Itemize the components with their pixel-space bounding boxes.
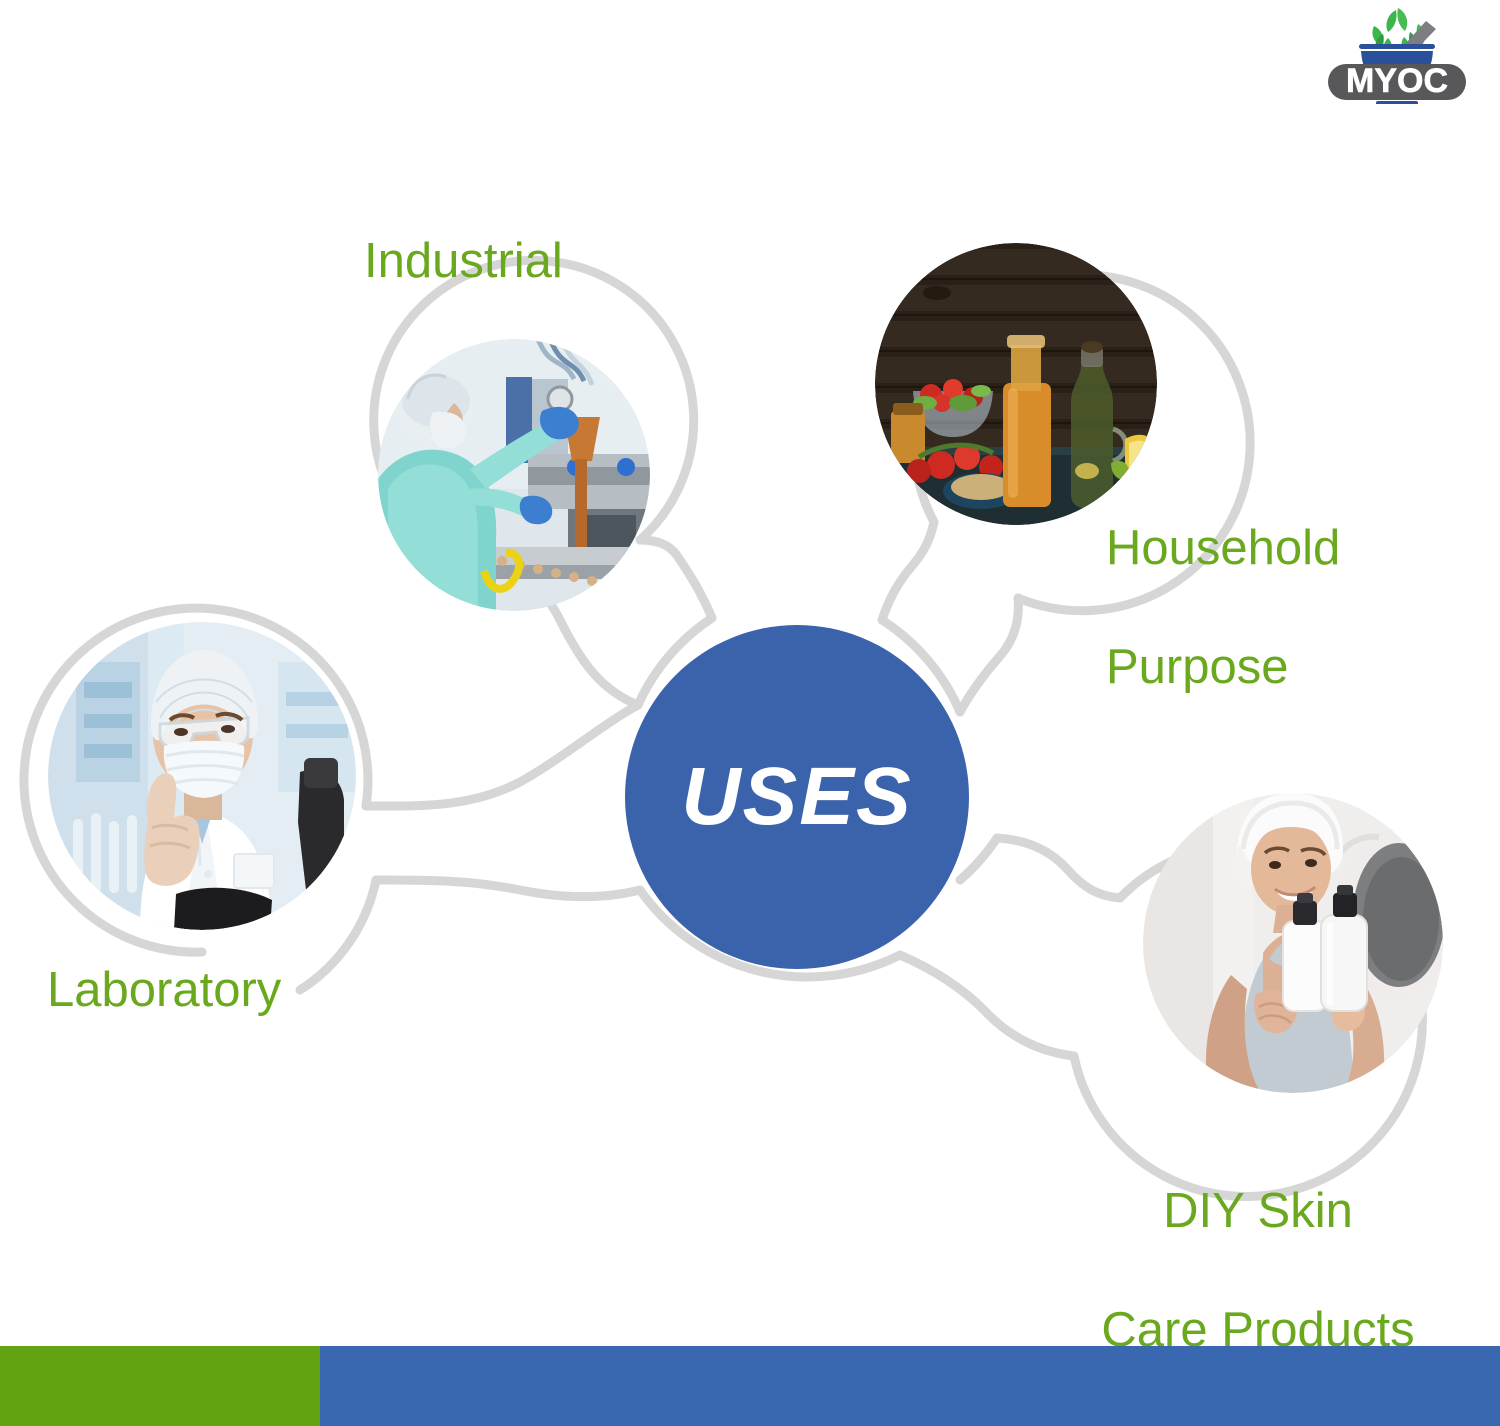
node-industrial[interactable] [378, 339, 650, 611]
label-household-line2: Purpose [1106, 638, 1340, 698]
infographic-canvas: MYOC [0, 0, 1500, 1426]
connector-center-to-industrial-a [640, 540, 712, 618]
center-label: USES [681, 756, 912, 838]
node-laboratory[interactable] [48, 622, 356, 930]
connector-center-to-diy-b [900, 955, 1074, 1056]
connector-laboratory-ring-b [300, 880, 376, 990]
footer-bar-blue [320, 1346, 1500, 1426]
label-diy-line1: DIY Skin [1078, 1182, 1438, 1242]
connector-center-ring-right [960, 838, 997, 880]
connector-center-to-lab-b [366, 705, 638, 806]
industrial-photo [378, 339, 650, 611]
connector-center-to-lab-a [376, 880, 640, 897]
label-laboratory: Laboratory [47, 961, 281, 1021]
footer-bar-green [0, 1346, 320, 1426]
connector-center-to-household-a [882, 522, 934, 620]
node-diy-skin-care[interactable] [1143, 793, 1443, 1093]
skincare-photo [1143, 793, 1443, 1093]
connector-center-to-diy-a [997, 838, 1120, 898]
label-household: Household Purpose [1106, 459, 1340, 758]
center-node-uses[interactable]: USES [625, 625, 969, 969]
footer-bar [0, 1346, 1500, 1426]
label-household-line1: Household [1106, 519, 1340, 579]
label-industrial: Industrial [364, 232, 563, 292]
connector-center-to-household-b [960, 598, 1018, 712]
laboratory-photo [48, 622, 356, 930]
